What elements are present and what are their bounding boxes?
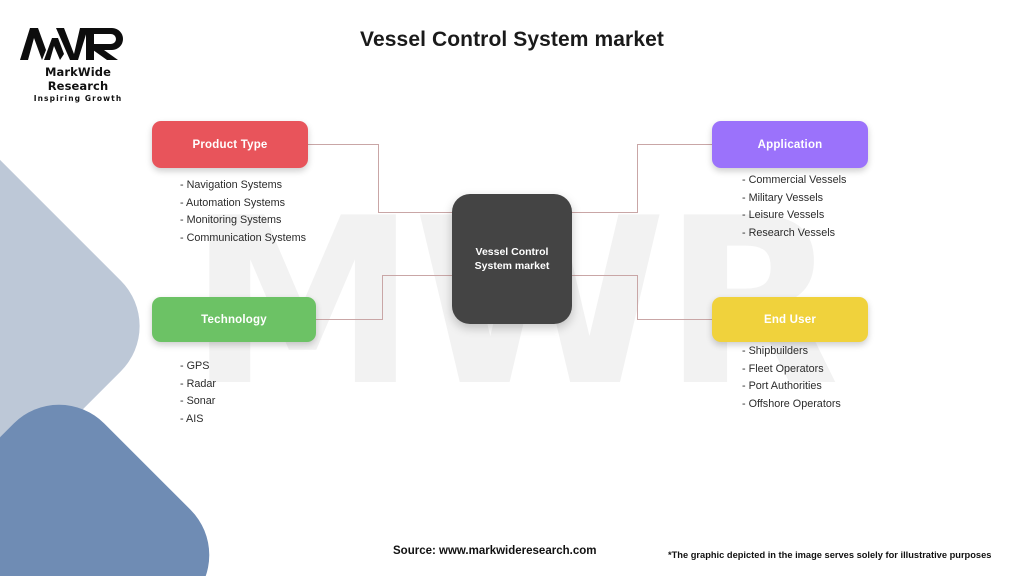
- connector-end-user-h1: [570, 275, 637, 276]
- node-technology-label: Technology: [201, 314, 267, 326]
- page-title: Vessel Control System market: [0, 28, 1024, 52]
- list-application: - Commercial Vessels - Military Vessels …: [742, 172, 846, 242]
- node-end-user-label: End User: [764, 314, 816, 326]
- center-node-label-line1: Vessel Control: [476, 246, 549, 258]
- list-item: - AIS: [180, 411, 216, 429]
- list-item: - Communication Systems: [180, 230, 306, 248]
- decorative-shape-upper: [0, 114, 166, 538]
- list-item: - Automation Systems: [180, 195, 306, 213]
- center-node-label: Vessel Control System market: [467, 245, 558, 273]
- list-item: - Research Vessels: [742, 225, 846, 243]
- list-item: - GPS: [180, 358, 216, 376]
- connector-product-type-h2: [378, 212, 454, 213]
- disclaimer-text: *The graphic depicted in the image serve…: [668, 550, 991, 560]
- connector-end-user-h2: [637, 319, 713, 320]
- node-application-label: Application: [758, 139, 823, 151]
- node-product-type-label: Product Type: [192, 139, 267, 151]
- connector-technology-h1: [316, 319, 383, 320]
- connector-technology-v: [382, 275, 383, 320]
- connector-technology-h2: [382, 275, 454, 276]
- node-application[interactable]: Application: [712, 121, 868, 168]
- list-end-user: - Shipbuilders - Fleet Operators - Port …: [742, 343, 841, 413]
- list-item: - Monitoring Systems: [180, 212, 306, 230]
- list-item: - Fleet Operators: [742, 361, 841, 379]
- infographic-canvas: MWR MarkWide Research Inspiring Growth V…: [0, 0, 1024, 576]
- list-technology: - GPS - Radar - Sonar - AIS: [180, 358, 216, 428]
- list-item: - Military Vessels: [742, 190, 846, 208]
- node-technology[interactable]: Technology: [152, 297, 316, 342]
- node-end-user[interactable]: End User: [712, 297, 868, 342]
- list-item: - Port Authorities: [742, 378, 841, 396]
- list-item: - Commercial Vessels: [742, 172, 846, 190]
- list-item: - Navigation Systems: [180, 177, 306, 195]
- brand-name: MarkWide Research: [18, 65, 138, 93]
- list-item: - Shipbuilders: [742, 343, 841, 361]
- connector-application-v: [637, 144, 638, 213]
- list-item: - Leisure Vessels: [742, 207, 846, 225]
- list-item: - Radar: [180, 376, 216, 394]
- source-text: Source: www.markwideresearch.com: [393, 545, 596, 557]
- center-node-label-line2: System market: [475, 260, 550, 272]
- brand-tagline: Inspiring Growth: [18, 94, 138, 103]
- connector-product-type-h1: [308, 144, 379, 145]
- list-product-type: - Navigation Systems - Automation System…: [180, 177, 306, 247]
- connector-end-user-v: [637, 275, 638, 320]
- node-product-type[interactable]: Product Type: [152, 121, 308, 168]
- list-item: - Offshore Operators: [742, 396, 841, 414]
- connector-application-h2: [637, 144, 713, 145]
- connector-product-type-v: [378, 144, 379, 212]
- center-node[interactable]: Vessel Control System market: [452, 194, 572, 324]
- connector-application-h1: [570, 212, 638, 213]
- list-item: - Sonar: [180, 393, 216, 411]
